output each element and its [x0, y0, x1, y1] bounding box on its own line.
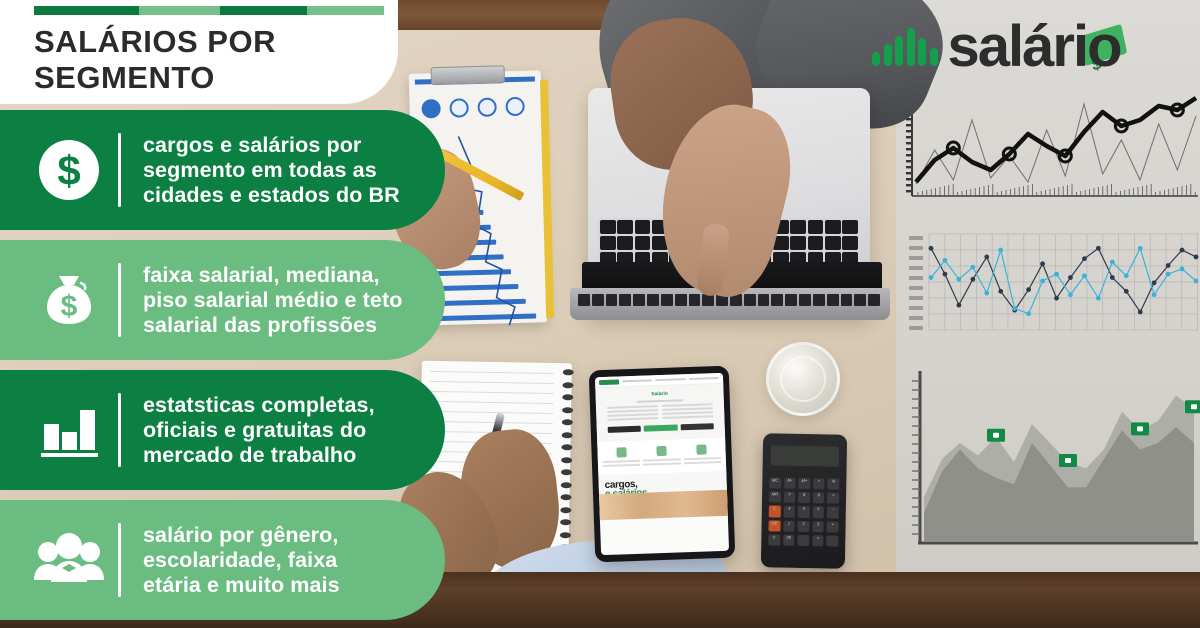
spiral-ring — [562, 382, 573, 388]
title-banner: SALÁRIOS POR SEGMENTO — [0, 0, 398, 104]
laptop-key — [808, 236, 824, 250]
tablet-nav-item — [655, 378, 685, 381]
calculator-key: M+ — [798, 478, 810, 489]
card-divider — [118, 523, 121, 597]
stripe-3 — [220, 6, 308, 15]
card-3-line-2: oficiais e gratuitas do — [143, 418, 375, 443]
laptop-lower-key — [841, 294, 853, 306]
tablet-hero-title: Salario — [601, 389, 717, 399]
clipboard-icon-4 — [505, 97, 524, 116]
card-4-line-2: escolaridade, faixa — [143, 548, 340, 573]
bar-chart-icon — [26, 398, 112, 462]
card-divider — [118, 393, 121, 467]
notebook-line — [429, 401, 553, 404]
card-1-line-1: cargos e salários por — [143, 133, 400, 158]
laptop-key — [617, 220, 633, 234]
laptop-lower-key — [771, 294, 783, 306]
stripe-1 — [34, 6, 139, 15]
equalizer-bar — [872, 52, 880, 66]
laptop-key — [825, 220, 841, 234]
calculator-key: MC — [769, 477, 781, 488]
laptop-lower-key — [785, 294, 797, 306]
calculator-key: 4 — [783, 506, 795, 517]
equalizer-bar — [918, 38, 926, 66]
card-1-line-3: cidades e estados do BR — [143, 183, 400, 208]
feature-card-3-text: estatsticas completas, oficiais e gratui… — [143, 393, 385, 468]
laptop-key — [635, 220, 651, 234]
laptop-key — [842, 236, 858, 250]
calculator-key: MR — [769, 492, 781, 503]
tablet-device: Salario — [589, 366, 736, 563]
people-group-icon — [26, 528, 112, 592]
card-1-line-2: segmento em todas as — [143, 158, 400, 183]
calculator-key: % — [828, 478, 840, 489]
clipboard-icon-3 — [477, 97, 496, 116]
notebook-line — [430, 381, 554, 384]
calculator-key: - — [827, 507, 839, 518]
calculator-key: 3 — [812, 521, 824, 532]
equalizer-bars-icon — [872, 28, 938, 66]
page-title: SALÁRIOS POR SEGMENTO — [34, 24, 398, 96]
bottom-right-area-chart — [900, 365, 1200, 557]
calculator-key: 6 — [813, 506, 825, 517]
tablet-feature — [643, 445, 681, 467]
tablet-nav-item — [622, 379, 652, 382]
spiral-ring — [561, 444, 572, 450]
laptop-key — [842, 220, 858, 234]
laptop-lower-key — [592, 294, 604, 306]
calculator-key: × — [827, 493, 839, 504]
notebook-line — [429, 411, 553, 414]
tablet-screen: Salario — [595, 373, 729, 555]
equalizer-bar — [907, 28, 915, 66]
calculator-key: = — [812, 535, 824, 546]
spiral-ring — [562, 394, 573, 400]
clipboard-clip — [431, 65, 505, 85]
calculator-key: + — [827, 521, 839, 532]
card-3-line-1: estatsticas completas, — [143, 393, 375, 418]
tablet-col — [607, 405, 659, 423]
card-divider — [118, 133, 121, 207]
laptop-lower-key — [799, 294, 811, 306]
tablet-button-2 — [644, 424, 678, 431]
laptop-key — [617, 236, 633, 250]
tablet-features — [597, 438, 726, 475]
calculator: MCM-M+÷%MR789×C456-CE123+000.= — [761, 433, 847, 568]
tablet-feature — [683, 444, 721, 466]
card-2-line-2: piso salarial médio e teto — [143, 288, 403, 313]
spiral-ring — [561, 469, 572, 475]
spiral-ring — [562, 419, 573, 425]
title-stripe-bar — [34, 6, 384, 15]
laptop-lower-key — [675, 294, 687, 306]
laptop-lower-key — [578, 294, 590, 306]
calculator-key: 9 — [813, 492, 825, 503]
poster-canvas: Salario — [0, 0, 1200, 628]
calculator-key: 5 — [798, 506, 810, 517]
card-2-line-3: salarial das profissões — [143, 313, 403, 338]
laptop-lower-key — [813, 294, 825, 306]
tablet-hero: Salario — [595, 384, 725, 442]
top-right-trend-chart — [900, 78, 1200, 210]
calculator-key: ÷ — [813, 478, 825, 489]
laptop-lower-key — [827, 294, 839, 306]
card-4-line-3: etária e muito mais — [143, 573, 340, 598]
calculator-display — [771, 445, 839, 466]
clipboard-icon-2 — [449, 98, 468, 117]
card-divider — [118, 263, 121, 337]
laptop-lower-key — [661, 294, 673, 306]
tablet-nav-item — [689, 377, 719, 380]
laptop-key — [790, 220, 806, 234]
laptop-lower-key — [854, 294, 866, 306]
tablet-feature — [602, 447, 640, 469]
laptop-lower-key — [744, 294, 756, 306]
equalizer-bar — [895, 36, 903, 66]
feature-card-1-text: cargos e salários por segmento em todas … — [143, 133, 410, 208]
laptop-lower-key — [619, 294, 631, 306]
brand-logo[interactable]: salário — [872, 18, 1121, 76]
feature-card-2[interactable]: $ faixa salarial, mediana, piso salarial… — [0, 240, 445, 360]
spiral-ring — [561, 482, 572, 488]
calculator-key: . — [797, 535, 809, 546]
tablet-hero-sub — [637, 399, 683, 403]
tablet-col — [662, 403, 714, 421]
laptop-key — [825, 236, 841, 250]
laptop-lower-key — [758, 294, 770, 306]
calculator-key: CE — [768, 520, 780, 531]
calculator-key: 1 — [783, 520, 795, 531]
money-bag-icon: $ — [26, 268, 112, 332]
calculator-key: M- — [784, 478, 796, 489]
laptop-key — [635, 236, 651, 250]
mid-right-dual-series-chart — [905, 228, 1200, 340]
water-glass — [766, 342, 840, 416]
notebook-line — [430, 371, 554, 374]
laptop-lower-key — [868, 294, 880, 306]
calculator-key: 00 — [783, 534, 795, 545]
brand-name-wrap: salário — [948, 18, 1121, 76]
notebook-line — [429, 421, 553, 424]
calculator-keys: MCM-M+÷%MR789×C456-CE123+000.= — [768, 477, 839, 560]
spiral-ring — [561, 494, 572, 500]
calculator-key: 8 — [798, 492, 810, 503]
dollar-circle-icon: $ — [26, 138, 112, 202]
calculator-key: 2 — [798, 520, 810, 531]
tablet-button-1 — [608, 426, 642, 433]
notebook-line — [429, 391, 553, 394]
tablet-button-3 — [680, 423, 714, 430]
tablet-promo: cargos, e salários — [598, 471, 727, 520]
calculator-key: 7 — [784, 492, 796, 503]
spiral-ring — [562, 407, 573, 413]
tablet-food-image — [599, 490, 728, 520]
spiral-ring — [560, 532, 571, 538]
laptop-key — [808, 220, 824, 234]
svg-text:$: $ — [61, 290, 78, 323]
card-2-line-1: faixa salarial, mediana, — [143, 263, 403, 288]
calculator-key: C — [769, 506, 781, 517]
stripe-2 — [139, 6, 220, 15]
spiral-ring — [560, 519, 571, 525]
equalizer-bar — [930, 48, 938, 66]
calculator-key: 0 — [768, 534, 780, 545]
laptop-lower-key — [606, 294, 618, 306]
laptop-key — [600, 220, 616, 234]
feature-card-1[interactable]: $ cargos e salários por segmento em toda… — [0, 110, 445, 230]
laptop-key — [600, 236, 616, 250]
laptop-lower-key — [689, 294, 701, 306]
laptop-key — [790, 236, 806, 250]
equalizer-bar — [884, 44, 892, 66]
svg-text:$: $ — [57, 147, 80, 194]
feature-card-4-text: salário por gênero, escolaridade, faixa … — [143, 523, 350, 598]
card-4-line-1: salário por gênero, — [143, 523, 340, 548]
tablet-site-logo — [599, 379, 619, 385]
spiral-ring — [563, 369, 574, 375]
stripe-4 — [307, 6, 384, 15]
laptop-lower-key — [633, 294, 645, 306]
brand-name: salário — [948, 14, 1121, 79]
card-3-line-3: mercado de trabalho — [143, 443, 375, 468]
feature-card-4[interactable]: salário por gênero, escolaridade, faixa … — [0, 500, 445, 620]
spiral-ring — [562, 432, 573, 438]
feature-card-list: $ cargos e salários por segmento em toda… — [0, 110, 445, 628]
feature-card-2-text: faixa salarial, mediana, piso salarial m… — [143, 263, 413, 338]
laptop-lower-key — [647, 294, 659, 306]
spiral-ring — [561, 457, 572, 463]
calculator-key — [827, 535, 839, 546]
feature-card-3[interactable]: estatsticas completas, oficiais e gratui… — [0, 370, 445, 490]
spiral-ring — [560, 507, 571, 513]
